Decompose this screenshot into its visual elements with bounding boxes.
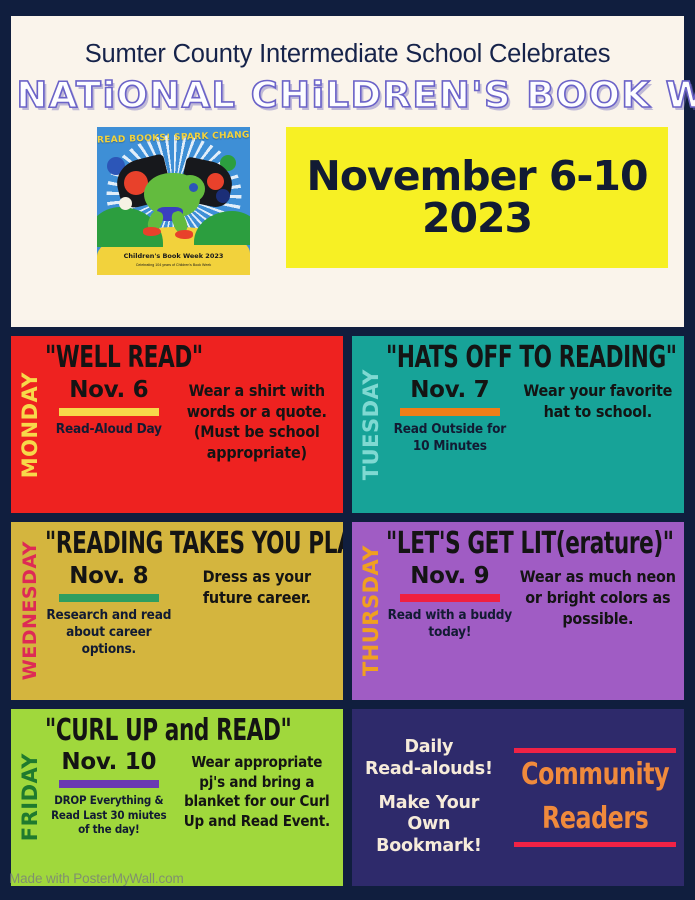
header-body: READ BOOKS! SPARK CHANGE Children's Book… [23, 127, 672, 275]
day-label-thursday: THURSDAY [361, 545, 382, 676]
panel-main-tuesday: "HATS OFF TO READING" Nov. 7 Read Outsid… [386, 342, 676, 507]
days-grid: MONDAY "WELL READ" Nov. 6 Read-Aloud Day… [11, 336, 684, 886]
day-tab-monday: MONDAY [15, 342, 45, 507]
cover-subcaption: Celebrating 104 years of Children's Book… [97, 263, 250, 267]
cover-dot-white [119, 197, 132, 210]
day-label-tuesday: TUESDAY [361, 369, 382, 480]
day-panel-monday[interactable]: MONDAY "WELL READ" Nov. 6 Read-Aloud Day… [11, 336, 343, 513]
date-tuesday: Nov. 7 [386, 379, 514, 402]
panel-columns-thursday: Nov. 9 Read with a buddy today! Wear as … [386, 563, 676, 694]
panel-main-monday: "WELL READ" Nov. 6 Read-Aloud Day Wear a… [45, 342, 335, 507]
panel-main-thursday: "LET'S GET LIT(erature)" Nov. 9 Read wit… [386, 528, 676, 693]
day-tab-tuesday: TUESDAY [356, 342, 386, 507]
subtitle-thursday: Read with a buddy today! [386, 607, 514, 641]
accent-rule-thursday [400, 594, 500, 602]
cover-character-shoe-1 [143, 227, 161, 236]
date-year: 2023 [422, 198, 532, 240]
activity-thursday: Wear as much neon or bright colors as po… [520, 563, 676, 629]
date-monday: Nov. 6 [45, 379, 173, 402]
activity-tuesday: Wear your favorite hat to school. [520, 377, 676, 423]
accent-rule-monday [59, 408, 159, 416]
day-tab-friday: FRIDAY [15, 715, 45, 880]
day-panel-thursday[interactable]: THURSDAY "LET'S GET LIT(erature)" Nov. 9… [352, 522, 684, 699]
day-panel-tuesday[interactable]: TUESDAY "HATS OFF TO READING" Nov. 7 Rea… [352, 336, 684, 513]
extras-panel[interactable]: Daily Read-alouds! Make Your Own Bookmar… [352, 709, 684, 886]
panel-columns-friday: Nov. 10 DROP Everything & Read Last 30 m… [45, 749, 335, 880]
page-title: NATiONAL CHiLDREN'S BOOK WEEK [17, 78, 679, 114]
subtitle-friday: DROP Everything & Read Last 30 miutes of… [45, 793, 173, 836]
community-readers-line-1: Community [521, 753, 669, 798]
date-box: November 6-10 2023 [286, 127, 668, 268]
community-readers-block: Community Readers [511, 748, 679, 847]
header-card: Sumter County Intermediate School Celebr… [11, 16, 684, 327]
cover-dot-navy [216, 189, 230, 203]
school-name-line: Sumter County Intermediate School Celebr… [23, 30, 672, 68]
panel-main-wednesday: "READING TAKES YOU PLACES" Nov. 8 Resear… [45, 528, 335, 693]
day-tab-thursday: THURSDAY [356, 528, 386, 693]
day-panel-wednesday[interactable]: WEDNESDAY "READING TAKES YOU PLACES" Nov… [11, 522, 343, 699]
panel-columns-wednesday: Nov. 8 Research and read about career op… [45, 563, 335, 694]
cover-dot-red-2 [207, 173, 224, 190]
activity-wednesday: Dress as your future career. [179, 563, 335, 609]
subtitle-monday: Read-Aloud Day [45, 421, 173, 438]
extras-line-3: Make Your [357, 793, 501, 814]
date-range: November 6-10 [307, 156, 648, 198]
subtitle-wednesday: Research and read about career options. [45, 607, 173, 658]
panel-columns-monday: Nov. 6 Read-Aloud Day Wear a shirt with … [45, 377, 335, 508]
day-panel-friday[interactable]: FRIDAY "CURL UP and READ" Nov. 10 DROP E… [11, 709, 343, 886]
date-column-thursday: Nov. 9 Read with a buddy today! [386, 563, 514, 641]
theme-title-tuesday: "HATS OFF TO READING" [386, 344, 676, 373]
day-label-monday: MONDAY [20, 372, 41, 478]
subtitle-tuesday: Read Outside for 10 Minutes [386, 421, 514, 455]
date-column-wednesday: Nov. 8 Research and read about career op… [45, 563, 173, 658]
date-thursday: Nov. 9 [386, 565, 514, 588]
poster-canvas: Sumter County Intermediate School Celebr… [0, 0, 695, 900]
extras-line-2: Read-alouds! [357, 759, 501, 780]
activity-friday: Wear appropriate pj's and bring a blanke… [179, 749, 335, 831]
theme-title-friday: "CURL UP and READ" [45, 717, 335, 746]
book-cover-image: READ BOOKS! SPARK CHANGE Children's Book… [97, 127, 250, 275]
date-column-monday: Nov. 6 Read-Aloud Day [45, 377, 173, 438]
extras-text-block: Daily Read-alouds! Make Your Own Bookmar… [357, 737, 501, 857]
extras-line-4: Own [357, 814, 501, 835]
accent-rule-wednesday [59, 594, 159, 602]
extras-spacer [357, 780, 501, 793]
accent-rule-friday [59, 780, 159, 788]
extras-line-1: Daily [357, 737, 501, 758]
theme-title-wednesday: "READING TAKES YOU PLACES" [45, 530, 335, 559]
panel-main-friday: "CURL UP and READ" Nov. 10 DROP Everythi… [45, 715, 335, 880]
cover-character-shoe-2 [175, 230, 193, 239]
accent-rule-tuesday [400, 408, 500, 416]
day-label-wednesday: WEDNESDAY [21, 541, 40, 680]
date-column-friday: Nov. 10 DROP Everything & Read Last 30 m… [45, 749, 173, 836]
day-tab-wednesday: WEDNESDAY [15, 528, 45, 693]
date-wednesday: Nov. 8 [45, 565, 173, 588]
panel-columns-tuesday: Nov. 7 Read Outside for 10 Minutes Wear … [386, 377, 676, 508]
extras-line-5: Bookmark! [357, 836, 501, 857]
date-column-tuesday: Nov. 7 Read Outside for 10 Minutes [386, 377, 514, 455]
day-label-friday: FRIDAY [20, 753, 41, 841]
activity-monday: Wear a shirt with words or a quote. (Mus… [179, 377, 335, 464]
theme-title-monday: "WELL READ" [45, 344, 335, 373]
cover-caption: Children's Book Week 2023 [97, 252, 250, 260]
cover-character-eye [189, 183, 198, 192]
community-readers-line-2: Readers [521, 797, 669, 842]
theme-title-thursday: "LET'S GET LIT(erature)" [386, 530, 676, 559]
community-readers-bar-bottom [514, 842, 676, 847]
date-friday: Nov. 10 [45, 751, 173, 774]
